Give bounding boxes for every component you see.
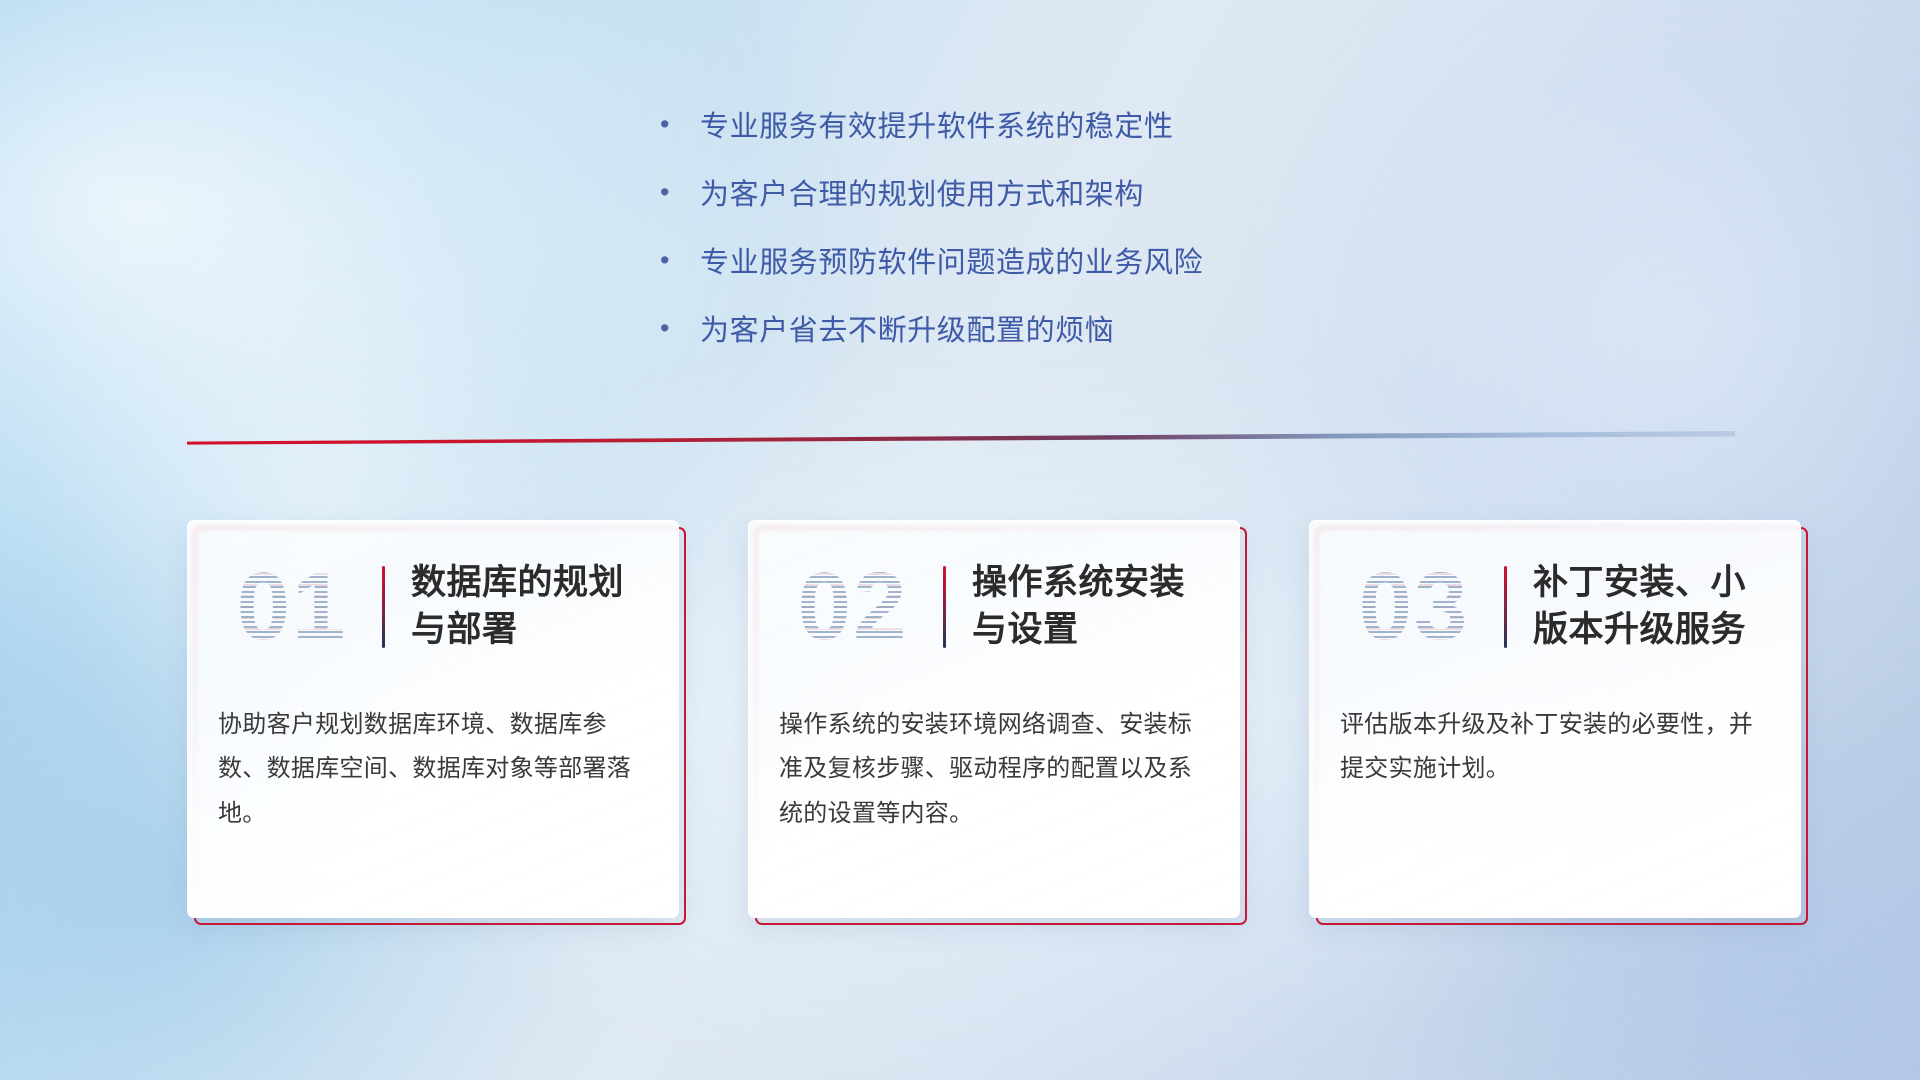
bullet-text: 专业服务预防软件问题造成的业务风险 [700, 244, 1203, 283]
bullet-text: 专业服务有效提升软件系统的稳定性 [700, 108, 1174, 147]
card-body-text: 操作系统的安装环境网络调查、安装标准及复核步骤、驱动程序的配置以及系统的设置等内… [749, 693, 1239, 836]
card-panel: 01 01 数据库的规划与部署 协助客户规划数据库环境、数据库参数、数据库空间、… [187, 520, 679, 918]
bullet-dot-icon: • [660, 247, 700, 274]
card-number-watermark-text: 02 [777, 551, 929, 663]
card-number-watermark-text: 01 [216, 551, 368, 663]
bullet-dot-icon: • [660, 111, 700, 138]
card-header: 03 03 补丁安装、小版本升级服务 [1310, 521, 1800, 693]
card-title-accent-bar [943, 566, 946, 648]
card-panel: 02 02 操作系统安装与设置 操作系统的安装环境网络调查、安装标准及复核步骤、… [748, 520, 1240, 918]
card-body-text: 评估版本升级及补丁安装的必要性，并提交实施计划。 [1310, 693, 1800, 792]
bullet-text: 为客户省去不断升级配置的烦恼 [700, 312, 1114, 351]
service-card-02[interactable]: 02 02 操作系统安装与设置 操作系统的安装环境网络调查、安装标准及复核步骤、… [748, 520, 1240, 918]
card-title: 数据库的规划与部署 [411, 560, 656, 654]
card-number-watermark: 02 02 [777, 551, 929, 663]
card-title-accent-bar [382, 566, 385, 648]
service-card-03[interactable]: 03 03 补丁安装、小版本升级服务 评估版本升级及补丁安装的必要性，并提交实施… [1309, 520, 1801, 918]
slide-canvas: • 专业服务有效提升软件系统的稳定性 • 为客户合理的规划使用方式和架构 • 专… [0, 0, 1920, 1080]
card-panel: 03 03 补丁安装、小版本升级服务 评估版本升级及补丁安装的必要性，并提交实施… [1309, 520, 1801, 918]
card-body-text: 协助客户规划数据库环境、数据库参数、数据库空间、数据库对象等部署落地。 [188, 693, 678, 836]
card-number-watermark: 03 03 [1338, 551, 1490, 663]
card-number-watermark: 01 01 [216, 551, 368, 663]
card-title: 补丁安装、小版本升级服务 [1533, 560, 1778, 654]
bullet-dot-icon: • [660, 315, 700, 342]
card-title: 操作系统安装与设置 [972, 560, 1217, 654]
card-title-accent-bar [1504, 566, 1507, 648]
list-item: • 专业服务有效提升软件系统的稳定性 [660, 108, 1560, 147]
list-item: • 专业服务预防软件问题造成的业务风险 [660, 244, 1560, 283]
list-item: • 为客户省去不断升级配置的烦恼 [660, 312, 1560, 351]
service-card-01[interactable]: 01 01 数据库的规划与部署 协助客户规划数据库环境、数据库参数、数据库空间、… [187, 520, 679, 918]
bullet-dot-icon: • [660, 179, 700, 206]
list-item: • 为客户合理的规划使用方式和架构 [660, 176, 1560, 215]
benefits-bullet-list: • 专业服务有效提升软件系统的稳定性 • 为客户合理的规划使用方式和架构 • 专… [660, 108, 1560, 379]
card-header: 01 01 数据库的规划与部署 [188, 521, 678, 693]
card-header: 02 02 操作系统安装与设置 [749, 521, 1239, 693]
card-number-watermark-text: 03 [1338, 551, 1490, 663]
bullet-text: 为客户合理的规划使用方式和架构 [700, 176, 1144, 215]
section-divider [187, 431, 1735, 447]
service-card-row: 01 01 数据库的规划与部署 协助客户规划数据库环境、数据库参数、数据库空间、… [187, 520, 1801, 940]
